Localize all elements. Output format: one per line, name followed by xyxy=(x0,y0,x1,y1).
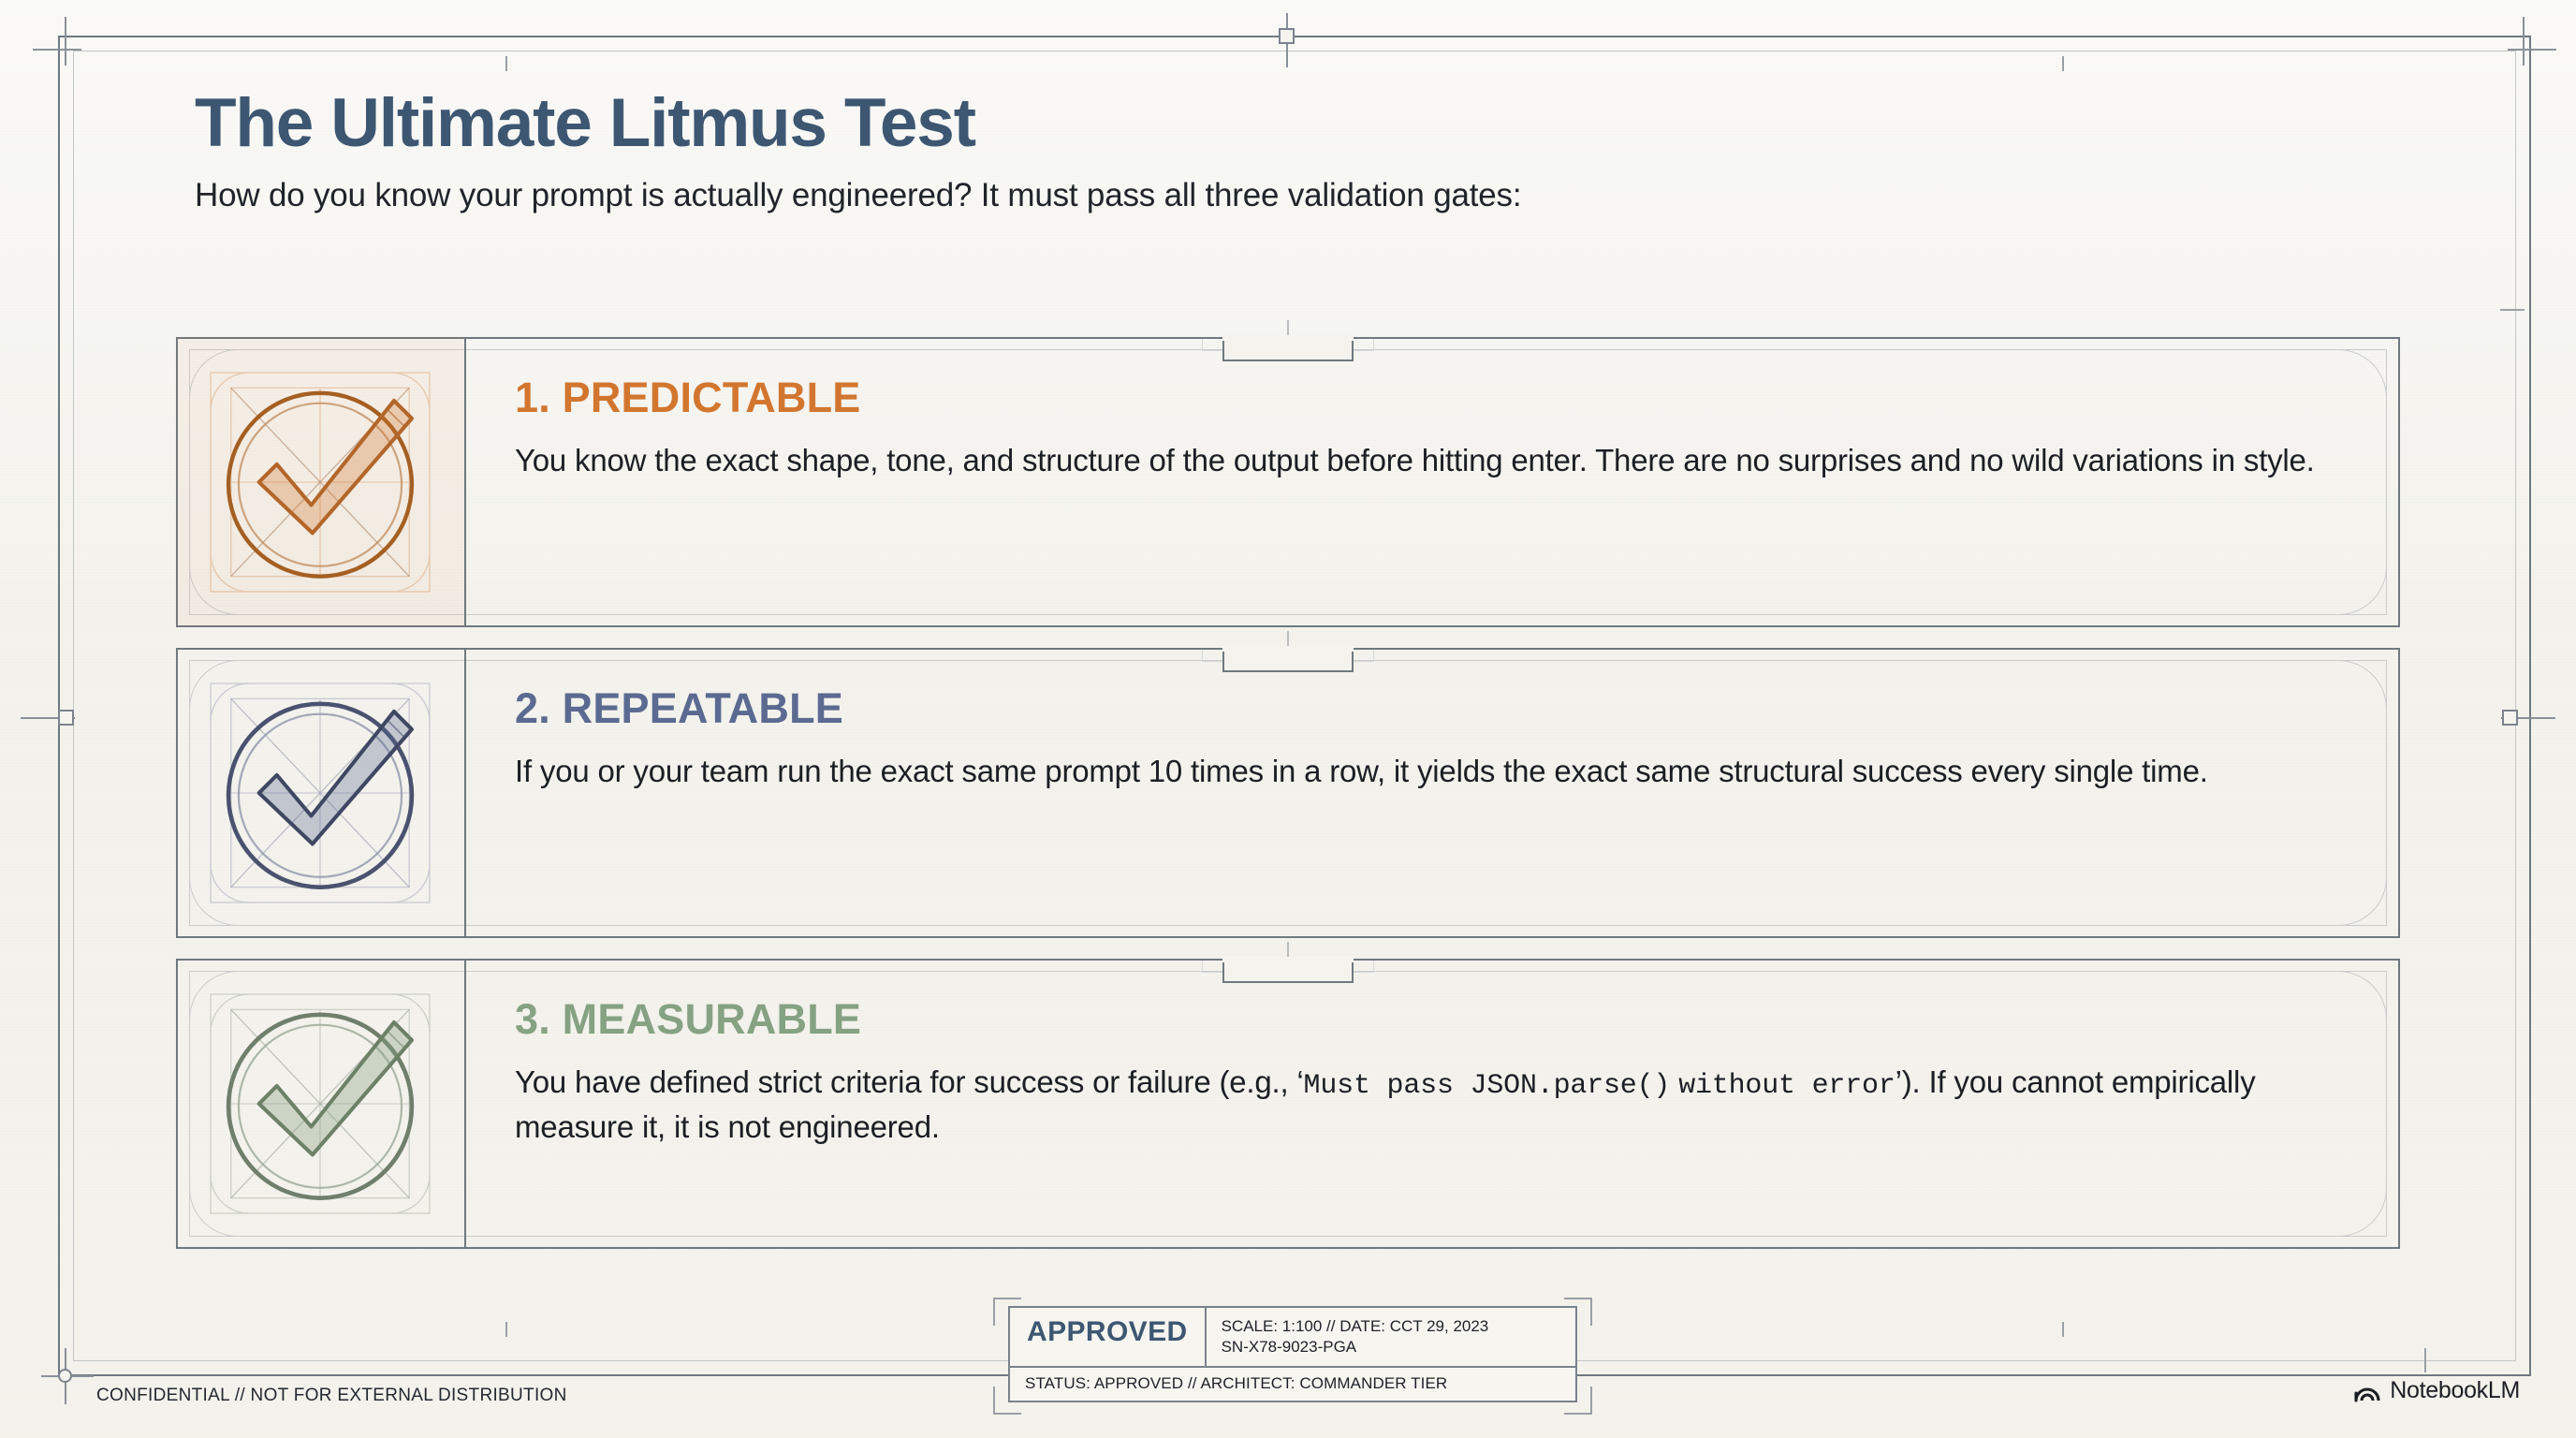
page-title: The Ultimate Litmus Test xyxy=(195,89,1521,158)
notebooklm-logo-icon xyxy=(2353,1379,2381,1403)
registration-mark-left xyxy=(58,710,74,726)
card-desc-repeatable: If you or your team run the exact same p… xyxy=(515,750,2344,793)
page-subtitle: How do you know your prompt is actually … xyxy=(195,177,1521,214)
titleblock-serial-number: SN-X78-9023-PGA xyxy=(1222,1337,1489,1357)
card-body-measurable: 3. MEASURABLE You have defined strict cr… xyxy=(466,959,2400,1249)
icon-cell-measurable xyxy=(176,959,466,1249)
card-notch xyxy=(1222,646,1354,674)
card-desc-line2: same structural success every single tim… xyxy=(1635,754,2207,788)
card-body-repeatable: 2. REPEATABLE If you or your team run th… xyxy=(466,648,2400,938)
card-title-predictable: 1. PREDICTABLE xyxy=(515,376,2344,418)
frame-tick-top-right xyxy=(2062,56,2064,71)
card-body-predictable: 1. PREDICTABLE You know the exact shape,… xyxy=(466,337,2400,627)
header: The Ultimate Litmus Test How do you know… xyxy=(195,89,1521,214)
titleblock-row-top: APPROVED SCALE: 1:100 // DATE: CCT 29, 2… xyxy=(1008,1306,1577,1368)
card-desc-code-2: without error xyxy=(1678,1070,1895,1102)
checkmark-circle-icon xyxy=(193,976,447,1231)
gate-card-measurable[interactable]: 3. MEASURABLE You have defined strict cr… xyxy=(176,959,2400,1249)
card-title-measurable: 3. MEASURABLE xyxy=(515,998,2344,1040)
icon-cell-predictable xyxy=(176,337,466,627)
gate-card-predictable[interactable]: 1. PREDICTABLE You know the exact shape,… xyxy=(176,337,2400,627)
brand-name: NotebookLM xyxy=(2390,1377,2520,1404)
card-desc-code-1: Must pass JSON.parse() xyxy=(1304,1070,1671,1102)
footer-confidential-notice: CONFIDENTIAL // NOT FOR EXTERNAL DISTRIB… xyxy=(96,1386,567,1406)
card-desc-line2: There are no surprises and no wild varia… xyxy=(1595,443,2315,477)
registration-mark-right xyxy=(2502,710,2518,726)
status-badge-approved: APPROVED xyxy=(1010,1308,1207,1366)
titleblock-bracket-tl xyxy=(993,1298,1021,1326)
crosshair-top-left-v xyxy=(65,17,66,66)
frame-tick-top-left xyxy=(505,56,507,71)
checkmark-circle-icon xyxy=(193,355,447,609)
registration-mark-top xyxy=(1279,28,1295,44)
nlm-stem-tick xyxy=(2424,1348,2426,1372)
titleblock-bracket-br xyxy=(1564,1387,1592,1415)
footer-brand: NotebookLM xyxy=(2353,1377,2520,1404)
titleblock: APPROVED SCALE: 1:100 // DATE: CCT 29, 2… xyxy=(1008,1306,1577,1402)
crosshair-top-right-v xyxy=(2523,17,2525,66)
crosshair-top-right-h xyxy=(2508,49,2556,51)
titleblock-bracket-bl xyxy=(993,1387,1021,1415)
frame-tick-bottom-left xyxy=(505,1322,507,1337)
card-desc-pre: You have defined strict criteria for suc… xyxy=(515,1064,1304,1099)
registration-mark-bottom-left xyxy=(58,1369,72,1383)
card-desc-line1: You know the exact shape, tone, and stru… xyxy=(515,443,1588,477)
card-notch xyxy=(1222,335,1354,363)
frame-tick-right-upper xyxy=(2500,309,2525,311)
card-title-repeatable: 2. REPEATABLE xyxy=(515,687,2344,729)
titleblock-meta: SCALE: 1:100 // DATE: CCT 29, 2023 SN-X7… xyxy=(1207,1308,1500,1366)
gate-card-repeatable[interactable]: 2. REPEATABLE If you or your team run th… xyxy=(176,648,2400,938)
crosshair-top-left-h xyxy=(33,49,81,51)
card-desc-predictable: You know the exact shape, tone, and stru… xyxy=(515,439,2344,482)
frame-tick-bottom-right xyxy=(2062,1322,2064,1337)
titleblock-scale-date: SCALE: 1:100 // DATE: CCT 29, 2023 xyxy=(1222,1316,1489,1337)
titleblock-status-line: STATUS: APPROVED // ARCHITECT: COMMANDER… xyxy=(1008,1368,1577,1402)
validation-gates-list: 1. PREDICTABLE You know the exact shape,… xyxy=(176,337,2400,1269)
card-desc-line1: If you or your team run the exact same p… xyxy=(515,754,1627,788)
titleblock-bracket-tr xyxy=(1564,1298,1592,1326)
checkmark-circle-icon xyxy=(193,666,447,920)
card-notch xyxy=(1222,957,1354,985)
icon-cell-repeatable xyxy=(176,648,466,938)
card-desc-measurable: You have defined strict criteria for suc… xyxy=(515,1061,2344,1149)
